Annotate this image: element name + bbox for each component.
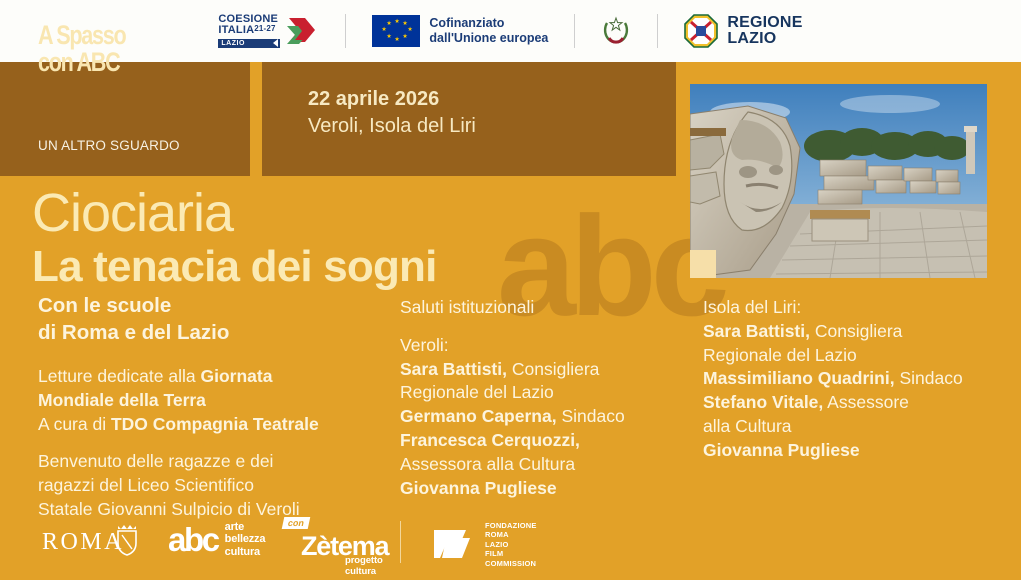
page-title: Ciociaria La tenacia dei sogni [32,186,437,291]
veroli-city-label: Veroli: [400,334,700,358]
person-name: Sara Battisti, [703,321,810,341]
event-date-block: 22 aprile 2026 Veroli, Isola del Liri [308,86,476,140]
person-role: Sindaco [895,368,963,388]
abc-logo: abc arte bellezza cultura [168,521,265,558]
isola-people-list: Sara Battisti, Consigliera Regionale del… [703,320,1013,463]
film-line1: FONDAZIONE [485,521,537,530]
event-date: 22 aprile 2026 [308,86,476,113]
person-name: Massimiliano Quadrini, [703,368,895,388]
regione-lazio-shield-icon [684,14,718,48]
film-commission-mark-icon [432,524,478,564]
coesione-italia-logo: COESIONE ITALIA21-27 LAZIO [218,14,319,48]
film-commission-logo: FONDAZIONE ROMA LAZIO FILM COMMISSION [432,521,537,568]
series-brand-line1: A Spasso [38,22,125,49]
event-places: Veroli, Isola del Liri [308,113,476,140]
welcome-l1: Benvenuto delle ragazze e dei [38,450,388,474]
person-role: Consigliera [507,359,599,379]
eu-line2: dall'Unione europea [429,31,548,46]
page-title-line2: La tenacia dei sogni [32,242,437,291]
person-name: Sara Battisti, [400,359,507,379]
film-line3: LAZIO [485,540,537,549]
series-brand-title: A Spasso con ABC [38,22,125,76]
person-role-line2: Regionale del Lazio [703,344,1013,368]
readings-l3-bold: TDO Compagnia Teatrale [111,414,319,434]
readings-l2-bold: Mondiale della Terra [38,390,206,410]
person-name: Stefano Vitale, [703,392,823,412]
person-name: Giovanna Pugliese [703,440,860,460]
person-name: Germano Caperna, [400,406,557,426]
list-item: Germano Caperna, Sindaco [400,405,700,429]
logo-divider-2 [574,14,575,48]
roma-wordmark: ROMA [42,529,124,556]
institutional-logo-bar: COESIONE ITALIA21-27 LAZIO ★ ★ ★ ★ ★ ★ ★… [0,0,1021,62]
roma-crest-icon [115,523,139,557]
abc-wordmark: abc [168,523,218,556]
person-role-line2: Assessora alla Cultura [400,453,700,477]
list-item: Giovanna Pugliese [400,477,700,501]
list-item: Sara Battisti, Consigliera [400,358,700,382]
regione-line1: REGIONE [727,15,802,31]
person-role-line2: alla Cultura [703,415,1013,439]
logo-divider-1 [345,14,346,48]
page-title-line1: Ciociaria [32,186,437,240]
person-role-line2: Regionale del Lazio [400,381,700,405]
person-name: Francesca Cerquozzi, [400,430,580,450]
regione-line2: LAZIO [727,31,802,47]
coesione-region-label: LAZIO [218,39,280,48]
person-name: Giovanna Pugliese [400,478,557,498]
partner-logo-bar: ROMA abc arte bellezza cultura con Zètem… [0,505,1021,580]
abc-word-cultura: cultura [225,546,266,558]
eu-line1: Cofinanziato [429,16,548,31]
zetema-con-label: con [282,517,311,529]
list-item: Francesca Cerquozzi, [400,429,700,453]
abc-word-bellezza: bellezza [225,533,266,545]
series-brand-subtitle: UN ALTRO SGUARDO [38,138,180,153]
isola-city-label: Isola del Liri: [703,296,1013,320]
archaeological-site-photo [690,84,987,278]
coesione-arrow-mark [285,16,319,46]
coesione-years: 21-27 [254,24,275,33]
coesione-line2: ITALIA [218,24,254,36]
list-item: Massimiliano Quadrini, Sindaco [703,367,1013,391]
schools-heading-line2: di Roma e del Lazio [38,319,388,346]
regione-lazio-logo: REGIONE LAZIO [684,14,802,48]
greetings-heading: Saluti istituzionali [400,296,700,320]
mid-info-column: Saluti istituzionali Veroli: Sara Battis… [400,296,700,500]
right-info-column: Isola del Liri: Sara Battisti, Consiglie… [703,296,1013,463]
person-role: Consigliera [810,321,902,341]
eu-cofinanced-logo: ★ ★ ★ ★ ★ ★ ★ ★ Cofinanziato dall'Unione… [372,15,548,47]
readings-l1-bold: Giornata [200,366,272,386]
footer-divider [400,521,401,563]
zetema-tagline: progetto cultura [345,555,383,577]
series-brand-line2: con ABC [38,49,125,76]
readings-l3-normal: A cura di [38,414,111,434]
schools-heading-line1: Con le scuole [38,292,388,319]
readings-block: Letture dedicate alla Giornata Mondiale … [38,365,388,436]
series-brand-box [0,62,250,176]
veroli-people-list: Sara Battisti, Consigliera Regionale del… [400,358,700,501]
list-item: Stefano Vitale, Assessore [703,391,1013,415]
film-line5: COMMISSION [485,559,537,568]
list-item: Sara Battisti, Consigliera [703,320,1013,344]
abc-word-arte: arte [225,521,266,533]
readings-l1-normal: Letture dedicate alla [38,366,200,386]
welcome-l2: ragazzi del Liceo Scientifico [38,474,388,498]
list-item: Giovanna Pugliese [703,439,1013,463]
eu-flag-icon: ★ ★ ★ ★ ★ ★ ★ ★ [372,15,420,47]
left-info-column: Con le scuole di Roma e del Lazio Lettur… [38,292,388,522]
film-line2: ROMA [485,530,537,539]
repubblica-italiana-emblem-icon [601,14,631,48]
person-role: Sindaco [557,406,625,426]
logo-divider-3 [657,14,658,48]
film-line4: FILM [485,549,537,558]
person-role: Assessore [823,392,909,412]
photo-corner-tab [690,250,716,278]
